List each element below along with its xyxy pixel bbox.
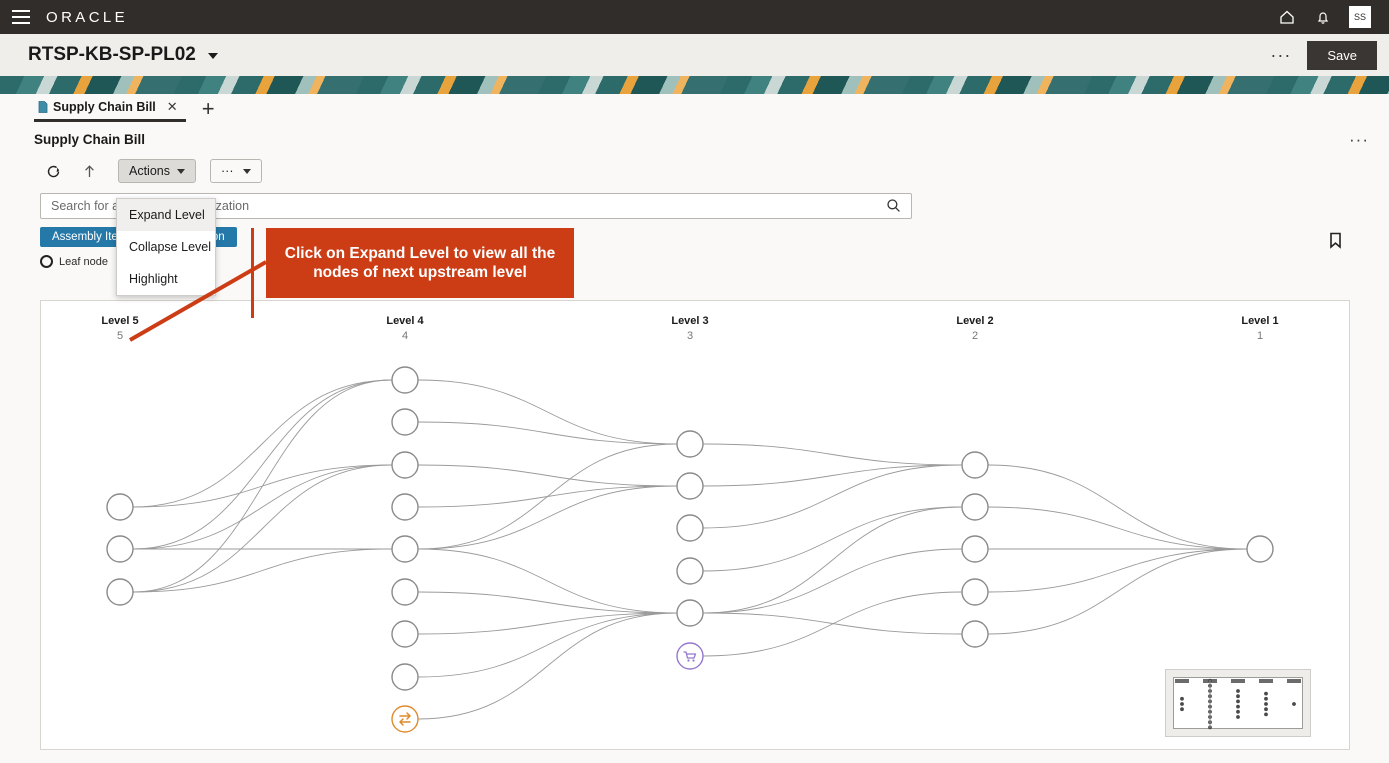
graph-edge — [703, 549, 962, 613]
graph-canvas — [41, 301, 1350, 750]
graph-edge — [703, 592, 962, 656]
minimap-node — [1292, 702, 1296, 706]
section-title: Supply Chain Bill — [34, 132, 145, 147]
hamburger-icon[interactable] — [12, 10, 30, 24]
graph-edge — [418, 549, 677, 613]
minimap-node — [1180, 702, 1184, 706]
graph-edge — [418, 380, 677, 444]
graph-node-transfer[interactable] — [392, 706, 418, 732]
graph-node-plain[interactable] — [392, 579, 418, 605]
home-icon[interactable] — [1277, 7, 1297, 27]
add-tab-button[interactable]: + — [202, 100, 215, 122]
actions-label: Actions — [129, 164, 170, 178]
minimap-node — [1264, 692, 1268, 696]
level-label-1: Level 5 — [75, 315, 165, 327]
graph-edge — [703, 465, 962, 486]
level-count-2: 4 — [360, 330, 450, 342]
graph-node-plain[interactable] — [107, 536, 133, 562]
minimap-level-marker — [1259, 679, 1273, 683]
decorative-banner — [0, 76, 1389, 94]
graph-node-plain[interactable] — [677, 473, 703, 499]
avatar[interactable]: SS — [1349, 6, 1371, 28]
graph-node-plain[interactable] — [392, 621, 418, 647]
graph-edge — [988, 549, 1247, 634]
actions-dropdown-menu[interactable]: Expand Level Collapse Level Highlight — [116, 198, 216, 296]
graph-edge — [703, 613, 962, 634]
graph-edge — [988, 507, 1247, 549]
bookmark-icon[interactable] — [1328, 232, 1343, 254]
graph-toolbar: Actions ··· — [0, 153, 1389, 183]
callout-tooltip: Click on Expand Level to view all the no… — [266, 228, 574, 298]
graph-node-plain[interactable] — [677, 558, 703, 584]
menu-item-highlight[interactable]: Highlight — [117, 263, 215, 295]
menu-item-collapse-level[interactable]: Collapse Level — [117, 231, 215, 263]
level-label-4: Level 2 — [930, 315, 1020, 327]
graph-node-plain[interactable] — [1247, 536, 1273, 562]
graph-node-plain[interactable] — [962, 579, 988, 605]
tab-supply-chain-bill[interactable]: Supply Chain Bill ✕ — [34, 99, 186, 122]
graph-edge — [703, 507, 962, 613]
supply-chain-graph[interactable]: Level 55Level 44Level 33Level 22Level 11 — [40, 300, 1350, 750]
minimap-node — [1264, 702, 1268, 706]
global-header-actions: SS — [1277, 6, 1377, 28]
graph-node-plain[interactable] — [962, 536, 988, 562]
minimap-node — [1264, 707, 1268, 711]
cart-wheel-icon — [692, 659, 694, 661]
graph-edge — [133, 380, 392, 549]
graph-edge — [418, 613, 677, 719]
chevron-down-icon[interactable] — [208, 53, 218, 59]
minimap-node — [1236, 700, 1240, 704]
graph-node-buy[interactable] — [677, 643, 703, 669]
page-title-group[interactable]: RTSP-KB-SP-PL02 — [28, 44, 218, 66]
graph-edge — [418, 613, 677, 677]
minimap-level-marker — [1231, 679, 1245, 683]
minimap-node — [1236, 705, 1240, 709]
graph-node-plain[interactable] — [107, 494, 133, 520]
graph-edge — [988, 549, 1247, 592]
section-overflow-menu[interactable]: ··· — [1349, 136, 1369, 144]
graph-node-plain[interactable] — [677, 431, 703, 457]
graph-node-plain[interactable] — [677, 515, 703, 541]
graph-edge — [703, 444, 962, 465]
cart-wheel-icon — [687, 659, 689, 661]
graph-node-plain[interactable] — [392, 536, 418, 562]
graph-node-plain[interactable] — [392, 664, 418, 690]
graph-node-plain[interactable] — [392, 409, 418, 435]
graph-node-plain[interactable] — [962, 621, 988, 647]
graph-node-plain[interactable] — [962, 494, 988, 520]
graph-edge — [133, 549, 392, 592]
minimap-node — [1180, 697, 1184, 701]
graph-edge — [133, 380, 392, 592]
level-label-5: Level 1 — [1215, 315, 1305, 327]
graph-edge — [418, 444, 677, 549]
graph-edge — [133, 465, 392, 592]
minimap-viewport[interactable] — [1173, 677, 1303, 729]
level-label-2: Level 4 — [360, 315, 450, 327]
graph-node-plain[interactable] — [392, 367, 418, 393]
minimap-level-marker — [1287, 679, 1301, 683]
graph-edge — [418, 465, 677, 486]
graph-node-plain[interactable] — [392, 452, 418, 478]
page-overflow-menu[interactable]: ··· — [1268, 46, 1293, 64]
minimap-node — [1180, 707, 1184, 711]
graph-node-plain[interactable] — [677, 600, 703, 626]
oracle-logo: ORACLE — [46, 9, 128, 26]
minimap-node — [1236, 694, 1240, 698]
graph-edge — [418, 486, 677, 549]
minimap-level-marker — [1175, 679, 1189, 683]
graph-edge — [703, 465, 962, 528]
level-count-3: 3 — [645, 330, 735, 342]
graph-edge — [418, 422, 677, 444]
level-count-5: 1 — [1215, 330, 1305, 342]
minimap-node — [1236, 715, 1240, 719]
chevron-down-icon — [177, 169, 185, 174]
graph-edge — [418, 613, 677, 634]
graph-edge — [133, 465, 392, 549]
section-header: Supply Chain Bill ··· — [0, 122, 1389, 153]
graph-edge — [703, 507, 962, 571]
page-title-bar: RTSP-KB-SP-PL02 ··· Save — [0, 34, 1389, 76]
more-label: ··· — [221, 164, 234, 178]
level-count-4: 2 — [930, 330, 1020, 342]
minimap[interactable] — [1165, 669, 1311, 737]
chevron-down-icon — [243, 169, 251, 174]
minimap-node — [1236, 710, 1240, 714]
page-title: RTSP-KB-SP-PL02 — [28, 44, 196, 65]
actions-button[interactable]: Actions — [118, 159, 196, 183]
menu-item-expand-level[interactable]: Expand Level — [117, 199, 215, 231]
global-header: ORACLE SS — [0, 0, 1389, 34]
level-label-3: Level 3 — [645, 315, 735, 327]
legend-label-leaf-node: Leaf node — [59, 256, 108, 268]
save-button[interactable]: Save — [1307, 41, 1377, 70]
graph-edge — [133, 380, 392, 507]
more-actions-button[interactable]: ··· — [210, 159, 262, 183]
graph-edge — [988, 465, 1247, 549]
page-bar-actions: ··· Save — [1268, 41, 1377, 70]
upload-arrow-icon[interactable] — [78, 160, 100, 182]
graph-node-plain[interactable] — [392, 494, 418, 520]
bell-icon[interactable] — [1313, 7, 1333, 27]
level-count-1: 5 — [75, 330, 165, 342]
graph-edge — [418, 592, 677, 613]
refresh-icon[interactable] — [42, 160, 64, 182]
tab-strip: Supply Chain Bill ✕ + — [0, 94, 1389, 122]
graph-node-plain[interactable] — [107, 579, 133, 605]
minimap-content — [1174, 678, 1304, 730]
minimap-node — [1236, 689, 1240, 693]
minimap-node — [1264, 697, 1268, 701]
callout-vertical-bar — [251, 228, 254, 318]
minimap-node — [1264, 713, 1268, 717]
document-icon — [38, 101, 48, 113]
search-icon[interactable] — [886, 198, 901, 218]
close-icon[interactable]: ✕ — [167, 99, 178, 115]
tab-label: Supply Chain Bill — [53, 100, 156, 114]
graph-node-plain[interactable] — [962, 452, 988, 478]
leaf-node-icon — [40, 255, 53, 268]
